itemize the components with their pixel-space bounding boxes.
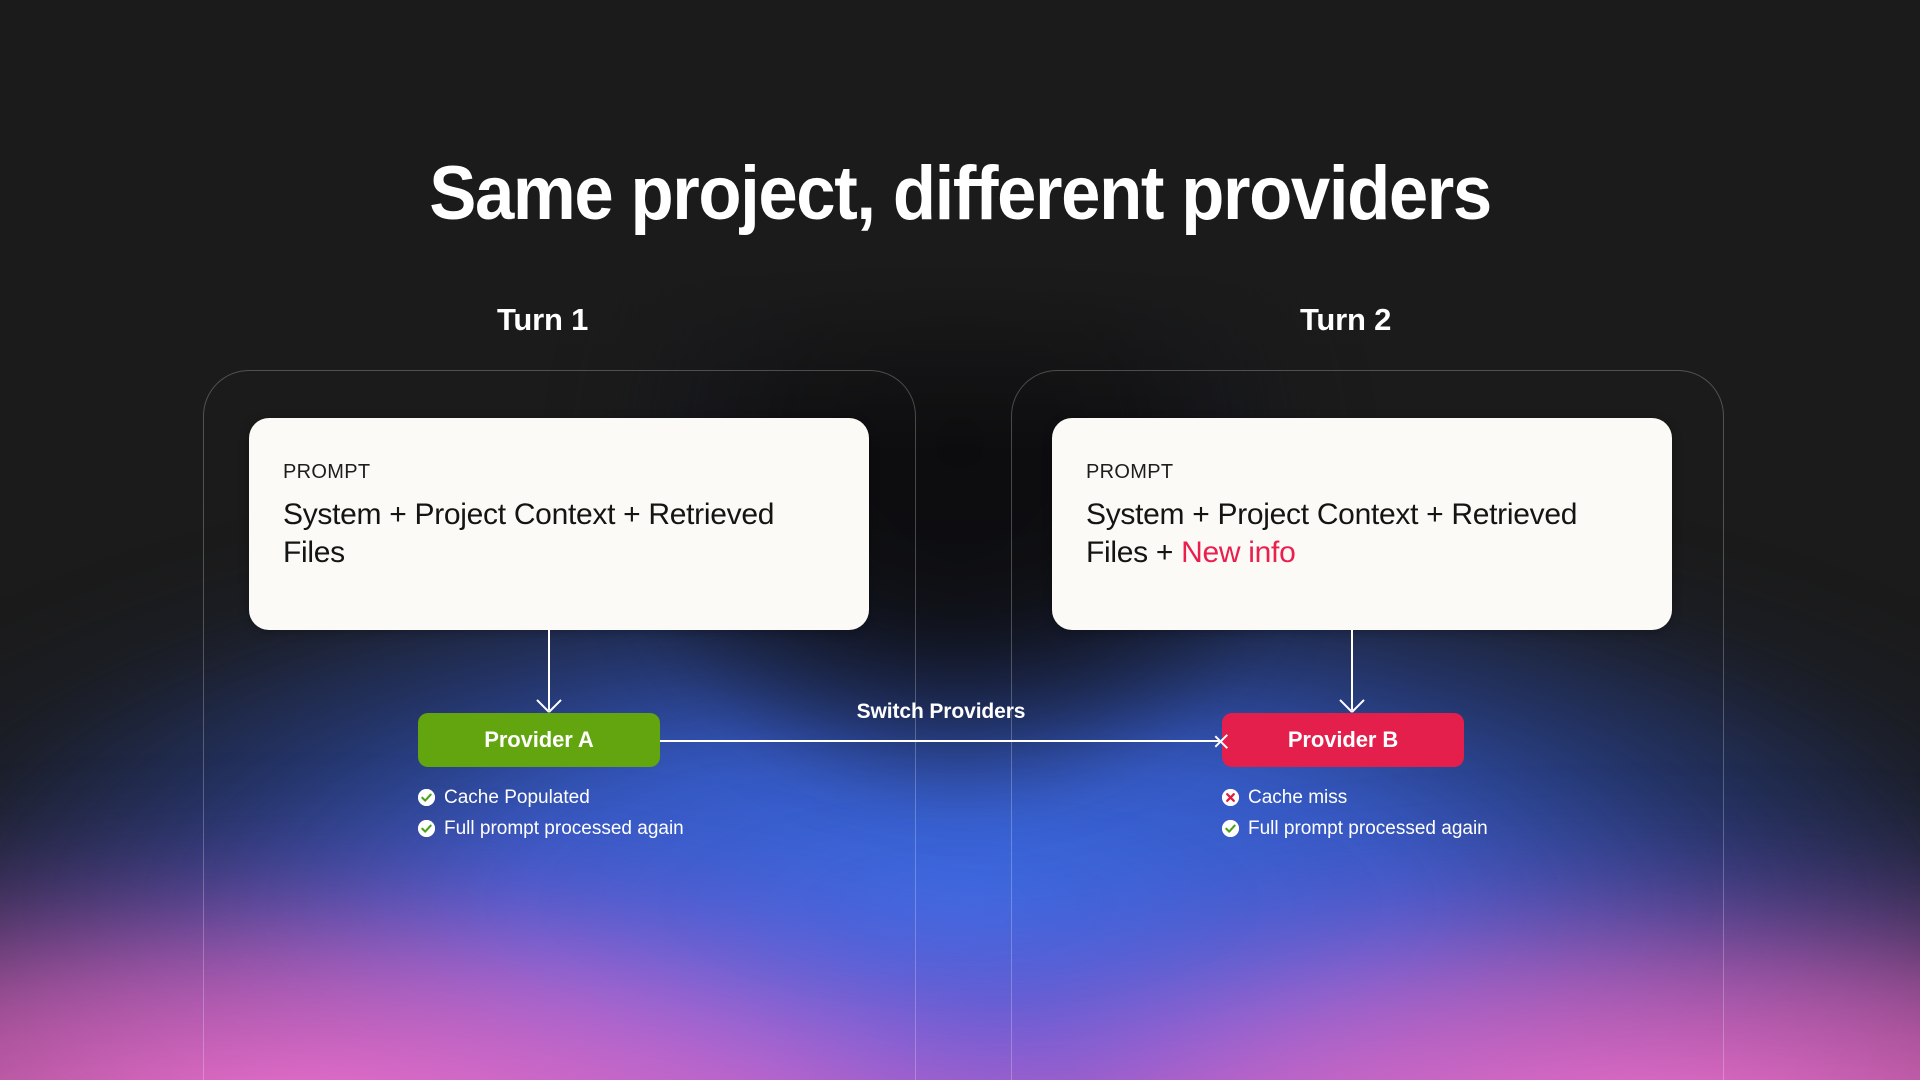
status-item: Full prompt processed again [418, 816, 684, 841]
x-circle-icon [1222, 789, 1239, 806]
provider-chip-a[interactable]: Provider A [418, 713, 660, 767]
prompt-card-body-main: System + Project Context + Retrieved Fil… [283, 498, 774, 569]
prompt-card-body: System + Project Context + Retrieved Fil… [283, 496, 835, 573]
status-item: Full prompt processed again [1222, 816, 1488, 841]
check-circle-icon [418, 820, 435, 837]
status-item-label: Cache miss [1248, 785, 1347, 810]
check-circle-icon [418, 789, 435, 806]
prompt-card-body-main: System + Project Context + Retrieved Fil… [1086, 498, 1577, 569]
prompt-card-2: PROMPT System + Project Context + Retrie… [1052, 418, 1672, 630]
status-item-label: Cache Populated [444, 785, 590, 810]
status-item: Cache Populated [418, 785, 684, 810]
prompt-card-kicker: PROMPT [283, 462, 835, 482]
page-title: Same project, different providers [67, 156, 1853, 232]
prompt-card-body: System + Project Context + Retrieved Fil… [1086, 496, 1638, 573]
arrow-head [1344, 695, 1360, 711]
status-item: Cache miss [1222, 785, 1488, 810]
prompt-card-1: PROMPT System + Project Context + Retrie… [249, 418, 869, 630]
arrow-head [541, 695, 557, 711]
arrow-right-icon [660, 732, 1222, 750]
check-circle-icon [1222, 820, 1239, 837]
arrow-down-icon [538, 630, 560, 710]
switch-providers-label: Switch Providers [660, 700, 1222, 724]
status-item-label: Full prompt processed again [1248, 816, 1488, 841]
status-list-turn-2: Cache miss Full prompt processed again [1222, 785, 1488, 847]
diagram-canvas: Same project, different providers Turn 1… [0, 0, 1920, 1080]
status-item-label: Full prompt processed again [444, 816, 684, 841]
provider-chip-b[interactable]: Provider B [1222, 713, 1464, 767]
arrow-shaft [660, 740, 1222, 742]
prompt-card-kicker: PROMPT [1086, 462, 1638, 482]
status-list-turn-1: Cache Populated Full prompt processed ag… [418, 785, 684, 847]
turn-label-2: Turn 2 [1300, 302, 1391, 338]
turn-label-1: Turn 1 [497, 302, 588, 338]
prompt-card-new-info: New info [1181, 536, 1295, 569]
arrow-head [1204, 732, 1222, 750]
arrow-down-icon [1341, 630, 1363, 710]
